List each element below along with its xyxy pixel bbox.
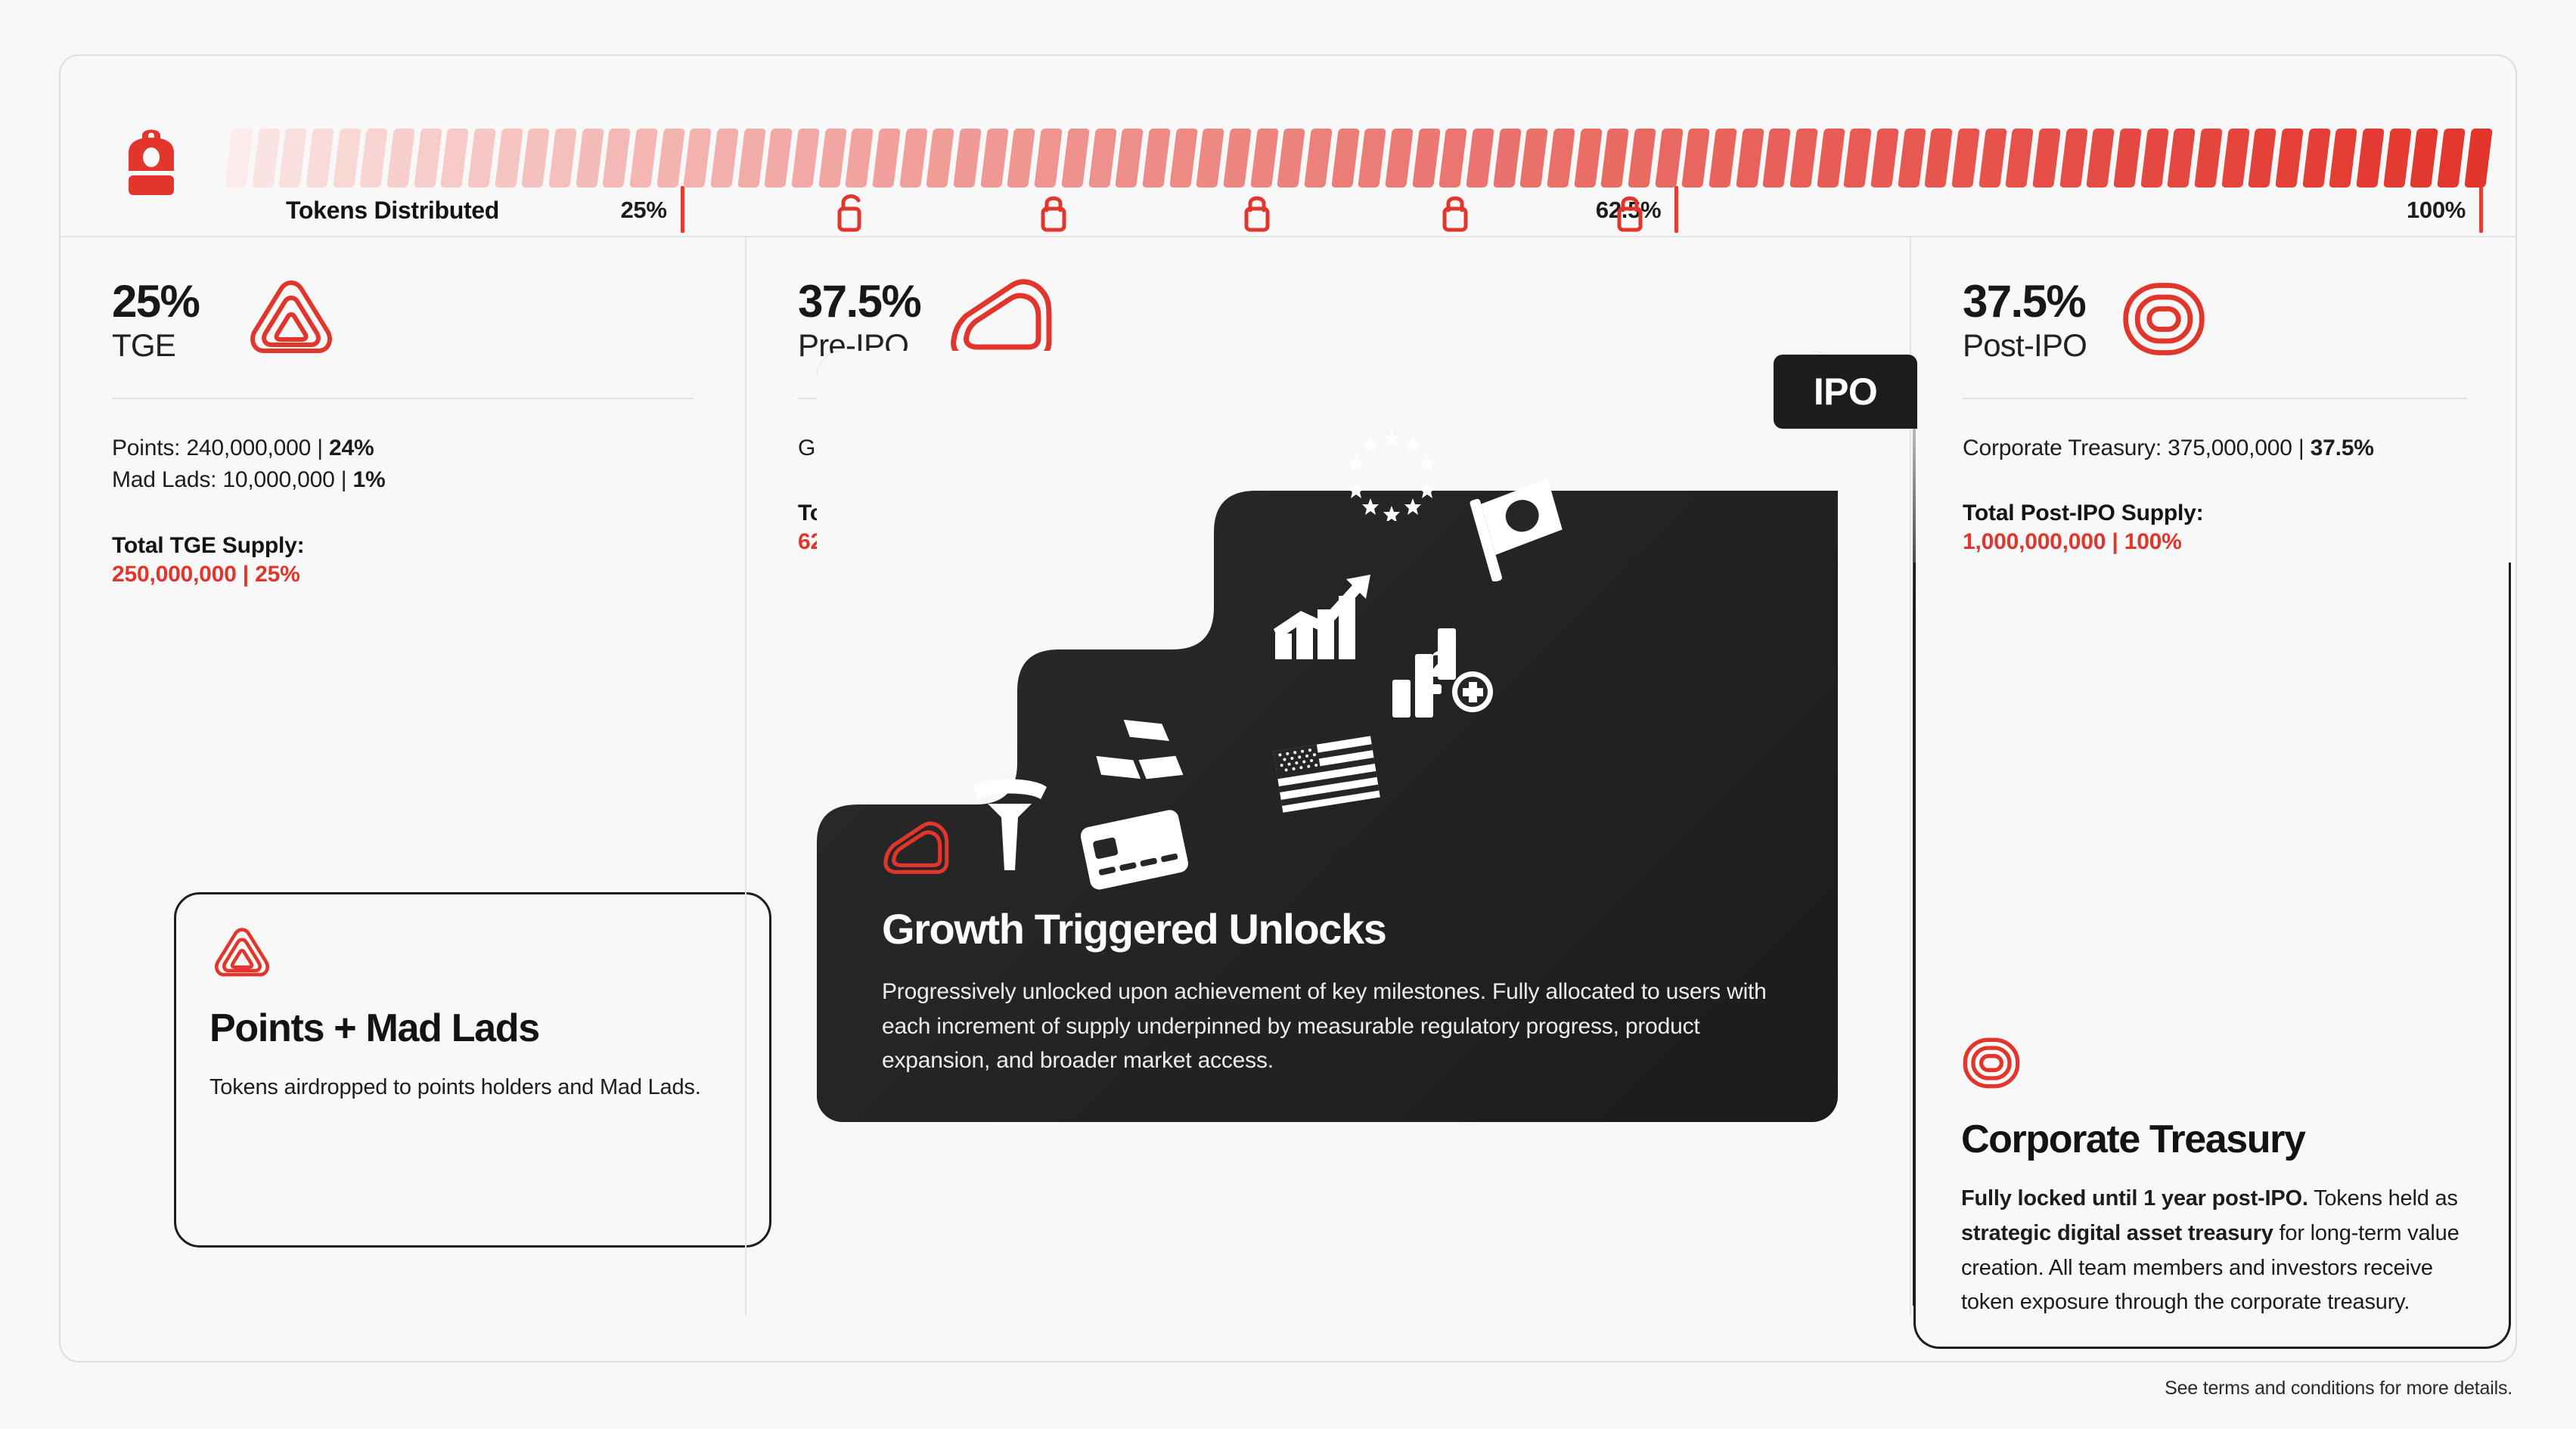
progress-dash xyxy=(818,129,846,188)
progress-dash xyxy=(737,129,765,188)
progress-dash xyxy=(1412,129,1440,188)
progress-dash xyxy=(791,129,819,188)
progress-dash xyxy=(1628,129,1656,188)
progress-dash xyxy=(414,129,442,188)
progress-dash xyxy=(1196,129,1224,188)
progress-dash xyxy=(1519,129,1547,188)
progress-dash xyxy=(1088,129,1116,188)
progress-dash xyxy=(2140,129,2168,188)
card-title: Points + Mad Lads xyxy=(209,1006,736,1051)
progress-dash xyxy=(603,129,631,188)
progress-dash xyxy=(2194,129,2222,188)
tge-points-label: Points: 240,000,000 xyxy=(112,436,311,460)
nested-triangle-icon xyxy=(242,275,340,366)
column-tge: 25% TGE Points: 240,000,000 | 24% xyxy=(61,237,745,1316)
main-panel: Tokens Distributed 25%62.5%100% 25% TGE xyxy=(59,54,2517,1362)
progress-dash xyxy=(1142,129,1170,188)
progress-dash xyxy=(495,129,523,188)
us-flag-icon xyxy=(1271,733,1384,823)
post-ipo-line-treasury: Corporate Treasury: 375,000,000 | 37.5% xyxy=(1963,432,2467,465)
progress-dash xyxy=(1709,129,1736,188)
progress-dash xyxy=(1385,129,1413,188)
tick-marker-line xyxy=(2479,186,2483,233)
progress-dash xyxy=(1870,129,1898,188)
progress-dash xyxy=(2221,129,2249,188)
progress-dash xyxy=(926,129,954,188)
tge-header: 25% TGE xyxy=(61,237,745,366)
column-post-ipo: 37.5% Post-IPO Corporate Treasury: 375,0… xyxy=(1910,237,2517,1316)
post-ipo-total: Total Post-IPO Supply: 1,000,000,000 | 1… xyxy=(1963,501,2467,555)
progress-dash xyxy=(1574,129,1602,188)
post-ipo-total-label: Total Post-IPO Supply: xyxy=(1963,501,2467,526)
progress-dash xyxy=(872,129,900,188)
progress-dash xyxy=(252,129,280,188)
progress-dash xyxy=(548,129,576,188)
tge-total-value: 250,000,000 | 25% xyxy=(112,562,694,587)
card-points-mad-lads[interactable]: Points + Mad Lads Tokens airdropped to p… xyxy=(174,892,771,1248)
dark-card-title: Growth Triggered Unlocks xyxy=(882,904,1777,953)
progress-dash xyxy=(522,129,550,188)
unlock-open-icon xyxy=(833,192,867,238)
tick-label: 25% xyxy=(620,197,680,224)
progress-dash xyxy=(1115,129,1143,188)
nested-wedge-icon xyxy=(882,819,1777,882)
lock-closed-icon xyxy=(1613,192,1646,238)
lock-closed-icon xyxy=(1037,192,1070,238)
progress-dash xyxy=(1250,129,1278,188)
nested-triangle-icon xyxy=(209,925,736,986)
post-ipo-meta: Corporate Treasury: 375,000,000 | 37.5% … xyxy=(1911,399,2517,556)
progress-dash xyxy=(386,129,414,188)
terms-note: See terms and conditions for more detail… xyxy=(2165,1378,2512,1400)
progress-dash xyxy=(2437,129,2465,188)
tokens-distributed-bar xyxy=(228,129,2488,188)
bar-chart-question-plus-icon xyxy=(1388,619,1501,725)
progress-dash xyxy=(441,129,469,188)
tge-total-label: Total TGE Supply: xyxy=(112,533,694,559)
pre-ipo-header: 37.5% Pre-IPO xyxy=(746,237,1910,366)
token-distribution-header: Tokens Distributed 25%62.5%100% xyxy=(61,56,2515,237)
progress-dash xyxy=(629,129,657,188)
progress-dash xyxy=(2032,129,2060,188)
progress-dash xyxy=(1169,129,1197,188)
lock-closed-icon xyxy=(1439,192,1472,238)
progress-dash xyxy=(765,129,793,188)
progress-dash xyxy=(710,129,738,188)
ipo-flagpole xyxy=(1913,429,1916,1306)
progress-dash xyxy=(1358,129,1386,188)
japan-flag-icon xyxy=(1463,476,1569,581)
eu-stars-icon xyxy=(1342,423,1441,521)
progress-dash xyxy=(1304,129,1332,188)
card-growth-triggered-unlocks[interactable]: Growth Triggered Unlocks Progressively u… xyxy=(817,351,1838,1122)
growth-chart-arrow-icon xyxy=(1271,570,1376,668)
progress-dash xyxy=(1736,129,1764,188)
card-body: Tokens airdropped to points holders and … xyxy=(209,1071,736,1105)
tge-meta: Points: 240,000,000 | 24% Mad Lads: 10,0… xyxy=(61,399,745,587)
progress-dash xyxy=(1817,129,1845,188)
progress-dash xyxy=(1439,129,1466,188)
sep: | xyxy=(335,467,353,492)
progress-dash xyxy=(360,129,388,188)
progress-dash xyxy=(279,129,307,188)
padlock-logo-icon xyxy=(123,122,180,198)
post-ipo-treasury-pct: 37.5% xyxy=(2311,436,2374,460)
progress-dash xyxy=(1925,129,1953,188)
progress-dash xyxy=(306,129,334,188)
progress-dash xyxy=(1547,129,1575,188)
progress-dash xyxy=(1007,129,1035,188)
progress-dash xyxy=(1844,129,1872,188)
tge-stage-label: TGE xyxy=(112,326,745,366)
progress-dash xyxy=(2275,129,2303,188)
progress-dash xyxy=(980,129,1008,188)
progress-dash xyxy=(2059,129,2087,188)
progress-dash xyxy=(2410,129,2438,188)
progress-dash xyxy=(225,129,253,188)
progress-dash xyxy=(2168,129,2196,188)
progress-dash xyxy=(333,129,361,188)
progress-dash xyxy=(2006,129,2034,188)
progress-dash xyxy=(656,129,684,188)
progress-dash xyxy=(899,129,927,188)
progress-dash xyxy=(1979,129,2006,188)
progress-dash xyxy=(1789,129,1817,188)
progress-dash xyxy=(2329,129,2357,188)
tge-line-points: Points: 240,000,000 | 24% xyxy=(112,432,694,465)
progress-dash xyxy=(1277,129,1305,188)
ipo-badge-label: IPO xyxy=(1814,370,1877,414)
gold-bars-icon xyxy=(1082,710,1195,808)
post-ipo-header: 37.5% Post-IPO xyxy=(1911,237,2517,366)
tge-madlads-pct: 1% xyxy=(352,467,385,492)
tge-points-pct: 24% xyxy=(329,436,374,460)
progress-dash xyxy=(2464,129,2492,188)
tick-label: 100% xyxy=(2407,197,2479,224)
progress-dash xyxy=(1223,129,1251,188)
progress-dash xyxy=(467,129,495,188)
progress-dash xyxy=(1061,129,1089,188)
progress-dash xyxy=(1898,129,1926,188)
tick-marker-line xyxy=(681,186,684,233)
progress-dash xyxy=(2356,129,2384,188)
post-ipo-treasury-label: Corporate Treasury: 375,000,000 xyxy=(1963,436,2292,460)
tge-total: Total TGE Supply: 250,000,000 | 25% xyxy=(112,533,694,587)
progress-dash xyxy=(1951,129,1979,188)
progress-dash xyxy=(2249,129,2277,188)
tge-percent: 25% xyxy=(112,279,745,324)
infographic-page: Tokens Distributed 25%62.5%100% 25% TGE xyxy=(0,0,2576,1429)
sep: | xyxy=(311,436,329,460)
progress-dash xyxy=(684,129,712,188)
progress-dash xyxy=(576,129,604,188)
nested-oval-icon xyxy=(2120,275,2208,367)
post-ipo-total-value: 1,000,000,000 | 100% xyxy=(1963,529,2467,555)
progress-dash xyxy=(2302,129,2330,188)
progress-dash xyxy=(1034,129,1062,188)
tge-madlads-label: Mad Lads: 10,000,000 xyxy=(112,467,335,492)
progress-tick-row: 25%62.5%100% xyxy=(228,186,2488,234)
lock-closed-icon xyxy=(1240,192,1274,238)
progress-dash xyxy=(1763,129,1791,188)
progress-dash xyxy=(1331,129,1359,188)
progress-dash xyxy=(1600,129,1628,188)
dark-card-content: Growth Triggered Unlocks Progressively u… xyxy=(882,819,1777,1078)
progress-dash xyxy=(953,129,981,188)
post-ipo-stage-label: Post-IPO xyxy=(1963,326,2517,366)
post-ipo-percent: 37.5% xyxy=(1963,279,2517,324)
progress-dash xyxy=(2383,129,2411,188)
progress-dashes xyxy=(228,129,2488,188)
progress-dash xyxy=(2087,129,2115,188)
sep: | xyxy=(2292,436,2311,460)
progress-dash xyxy=(846,129,874,188)
ipo-badge: IPO xyxy=(1774,355,1917,429)
progress-dash xyxy=(1466,129,1494,188)
tge-line-madlads: Mad Lads: 10,000,000 | 1% xyxy=(112,464,694,497)
progress-dash xyxy=(2113,129,2141,188)
progress-dash xyxy=(1655,129,1683,188)
progress-dash xyxy=(1681,129,1709,188)
dark-card-body: Progressively unlocked upon achievement … xyxy=(882,975,1777,1078)
tick-marker-line xyxy=(1674,186,1678,233)
progress-dash xyxy=(1493,129,1521,188)
